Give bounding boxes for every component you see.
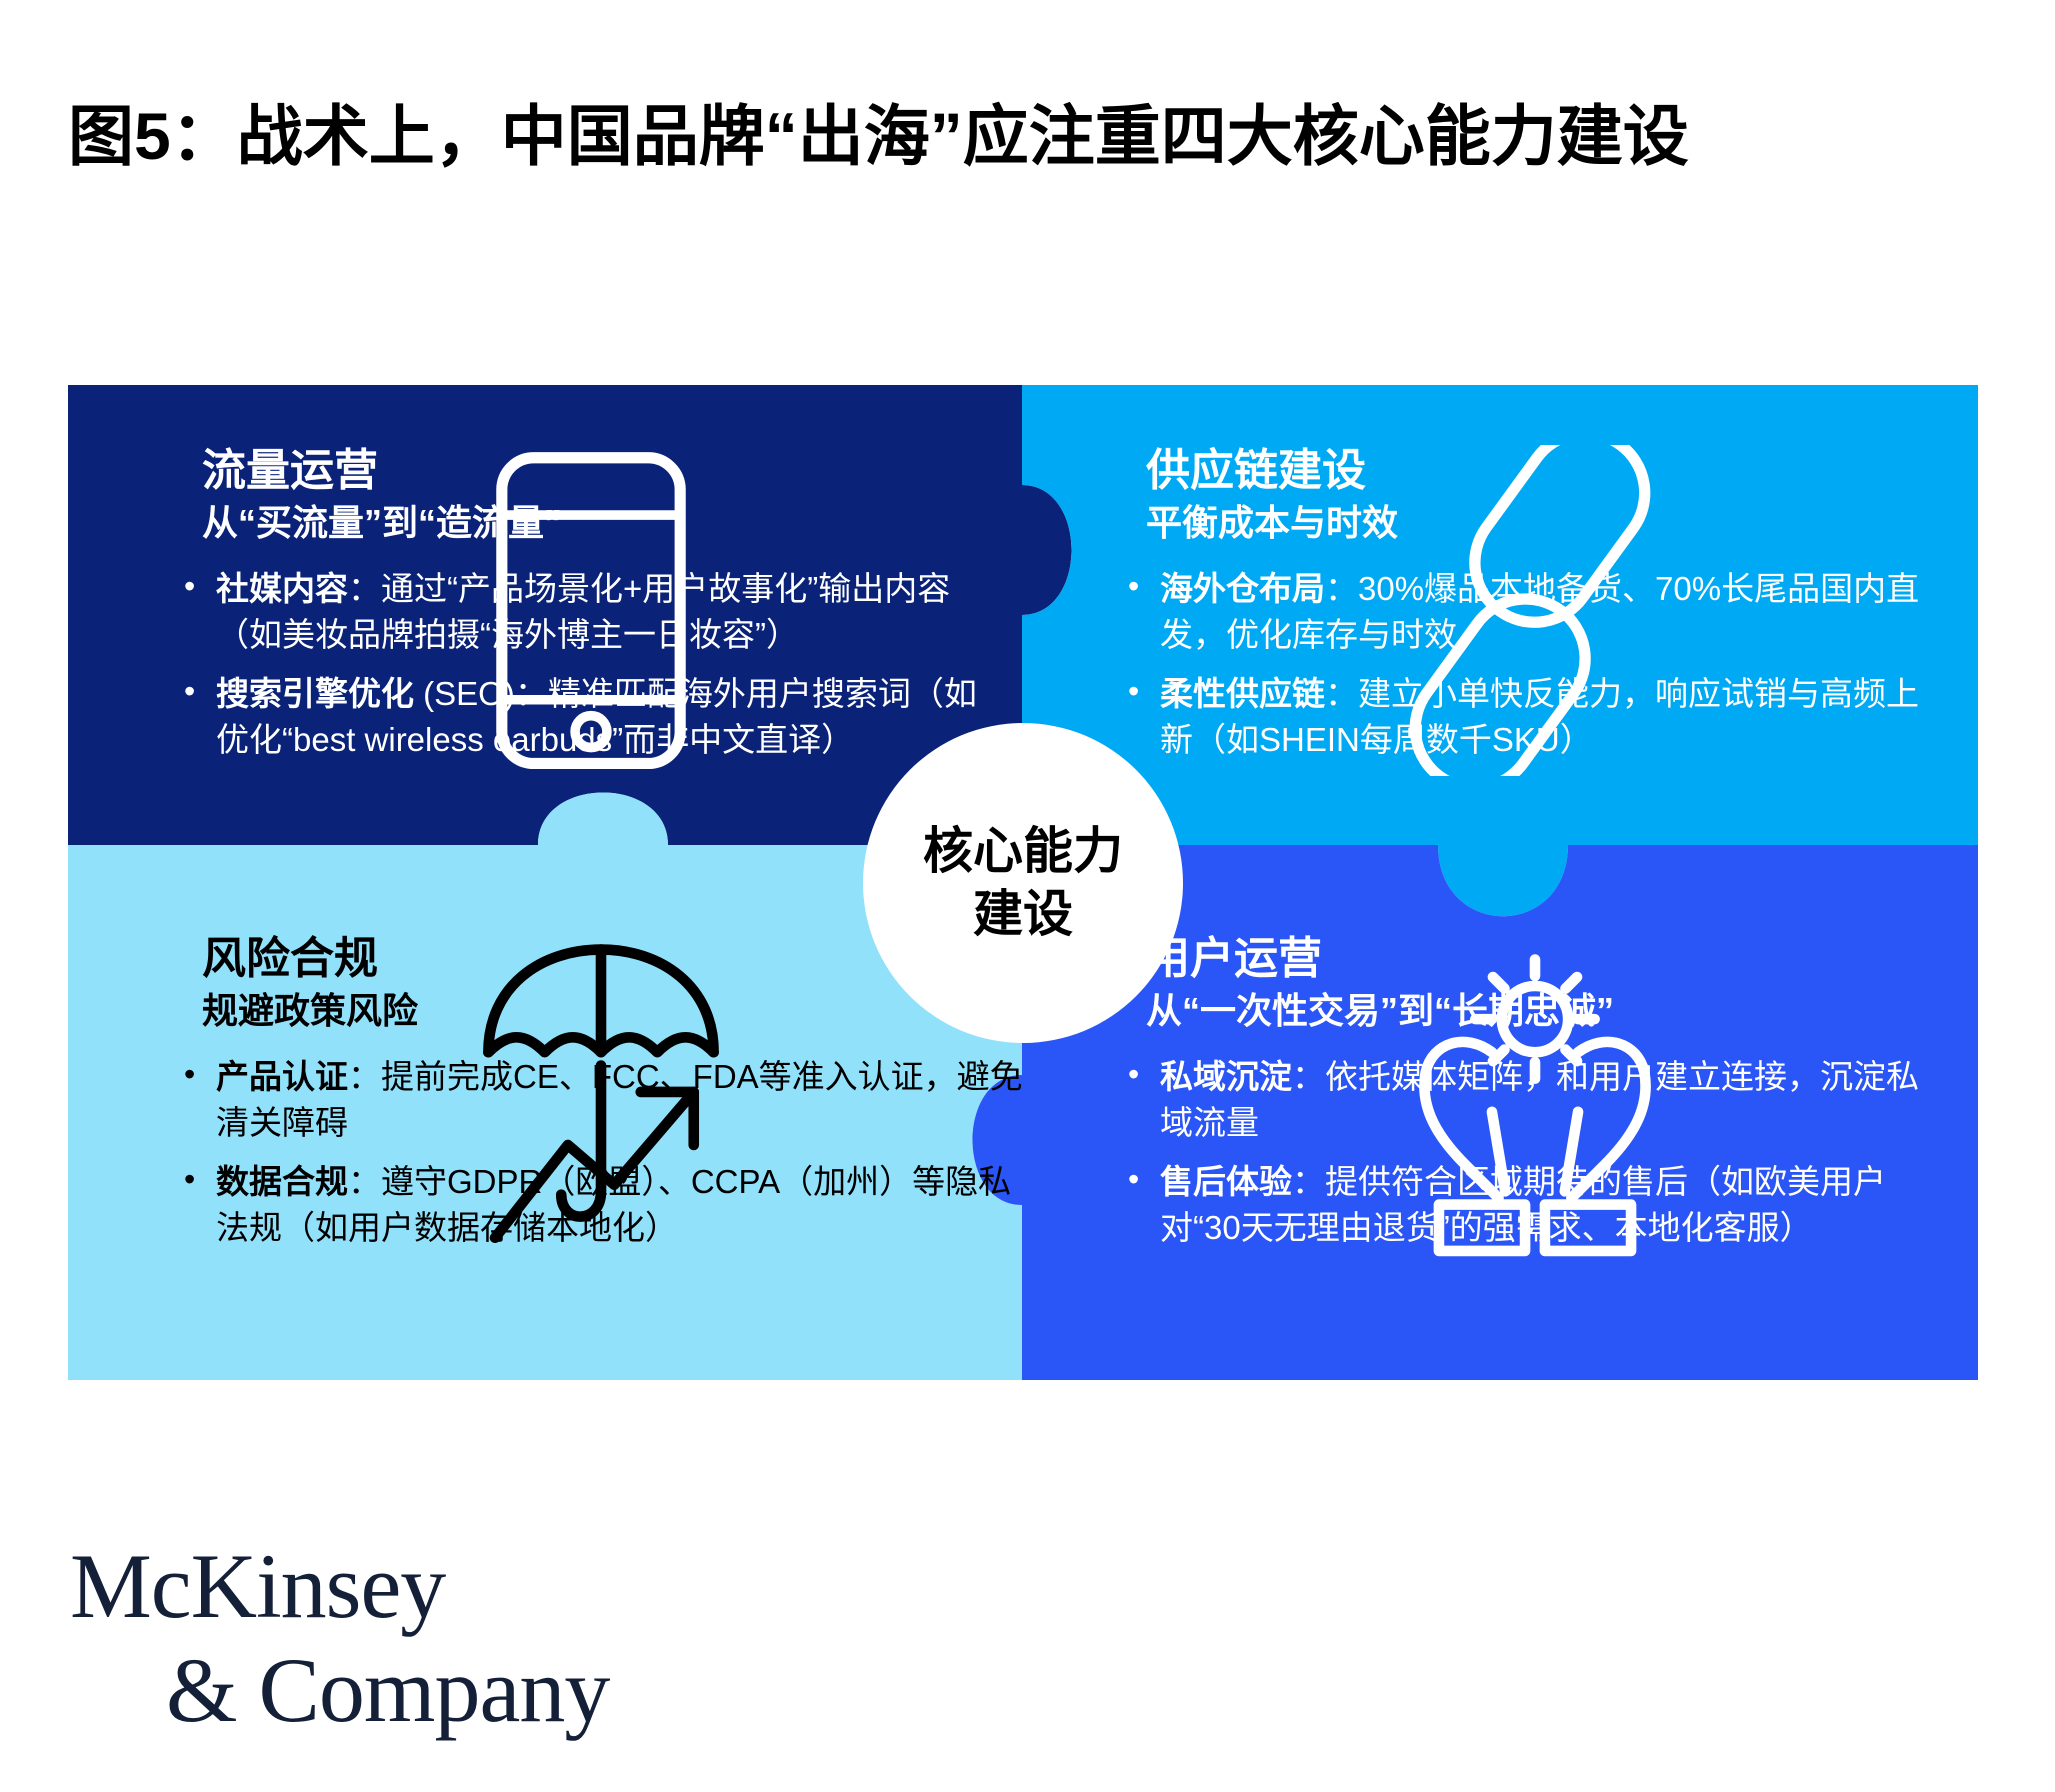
list-item: 搜索引擎优化 (SEO)：精准匹配海外用户搜索词（如优化“best wirele… — [176, 671, 1006, 762]
logo-line-1: McKinsey — [70, 1540, 609, 1632]
bullet-lead: 柔性供应链 — [1160, 675, 1325, 712]
list-item: 售后体验：提供符合区域期待的售后（如欧美用户对“30天无理由退货”的强需求、本地… — [1120, 1159, 1950, 1250]
bullet-lead: 搜索引擎优化 — [216, 675, 414, 712]
list-item: 产品认证：提前完成CE、FCC、FDA等准入认证，避免清关障碍 — [176, 1054, 1026, 1145]
bullet-lead: 私域沉淀 — [1160, 1058, 1292, 1095]
quadrant-user-operations: 用户运营 从“一次性交易”到“长期忠诚” 私域沉淀：依托媒体矩阵，和用户建立连接… — [1120, 933, 1950, 1264]
logo-line-2: & Company — [166, 1644, 609, 1736]
bullet-lead: 数据合规 — [216, 1163, 348, 1200]
mckinsey-logo: McKinsey & Company — [70, 1540, 609, 1736]
quadrant-traffic-operations: 流量运营 从“买流量”到“造流量” 社媒内容：通过“产品场景化+用户故事化”输出… — [176, 445, 1006, 776]
list-item: 私域沉淀：依托媒体矩阵，和用户建立连接，沉淀私域流量 — [1120, 1054, 1950, 1145]
list-item: 海外仓布局：30%爆品本地备货、70%长尾品国内直发，优化库存与时效 — [1120, 566, 1940, 657]
list-item: 数据合规：遵守GDPR（欧盟）、CCPA（加州）等隐私法规（如用户数据存储本地化… — [176, 1159, 1026, 1250]
bullet-lead: 社媒内容 — [216, 570, 348, 607]
center-hub: 核心能力 建设 — [863, 723, 1183, 1043]
bullet-lead: 产品认证 — [216, 1058, 348, 1095]
quadrant-header: 用户运营 从“一次性交易”到“长期忠诚” — [1120, 933, 1950, 1032]
quadrant-header: 流量运营 从“买流量”到“造流量” — [176, 445, 1006, 544]
puzzle-board: 流量运营 从“买流量”到“造流量” 社媒内容：通过“产品场景化+用户故事化”输出… — [68, 385, 1978, 1380]
quadrant-header: 供应链建设 平衡成本与时效 — [1120, 445, 1940, 544]
bullet-lead: 售后体验 — [1160, 1163, 1292, 1200]
list-item: 社媒内容：通过“产品场景化+用户故事化”输出内容（如美妆品牌拍摄“海外博主一日妆… — [176, 566, 1006, 657]
center-hub-label: 核心能力 建设 — [923, 820, 1123, 945]
list-item: 柔性供应链：建立小单快反能力，响应试销与高频上新（如SHEIN每周数千SKU） — [1120, 671, 1940, 762]
quadrant-supply-chain: 供应链建设 平衡成本与时效 海外仓布局：30%爆品本地备货、70%长尾品国内直发… — [1120, 445, 1940, 776]
bullet-lead: 海外仓布局 — [1160, 570, 1325, 607]
page-title: 图5：战术上，中国品牌“出海”应注重四大核心能力建设 — [68, 96, 1948, 177]
